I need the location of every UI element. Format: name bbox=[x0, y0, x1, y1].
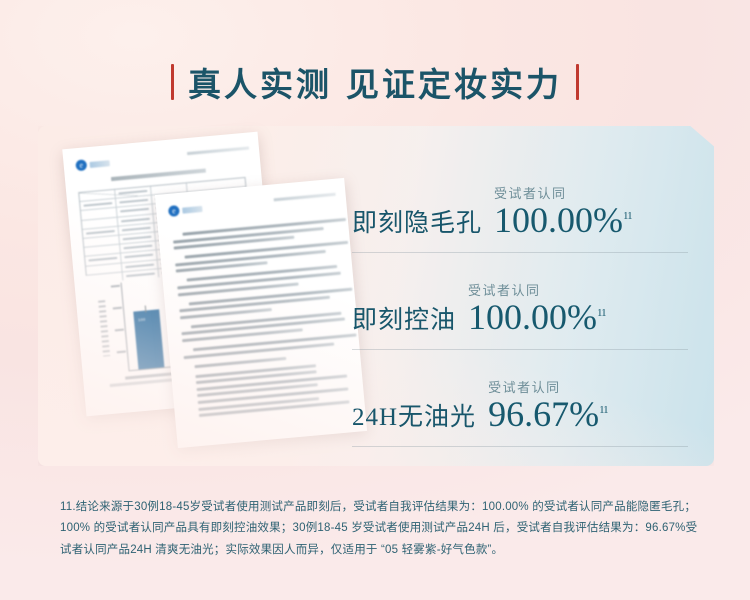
stat-footnote-mark-24h-matte: 11 bbox=[599, 404, 608, 416]
report-header-line bbox=[187, 147, 249, 156]
clinical-report-front-page: e bbox=[155, 178, 367, 448]
chart-y-axis bbox=[121, 283, 130, 371]
stat-row-24h-matte: 24H无油光 受试者认同 96.67%11 bbox=[352, 349, 688, 446]
stat-value-24h-matte: 96.67%11 bbox=[488, 396, 608, 432]
stat-row-oil-control: 即刻控油 受试者认同 100.00%11 bbox=[352, 252, 688, 349]
page-title: 真人实测见证定妆实力 bbox=[0, 58, 750, 106]
promo-page: 真人实测见证定妆实力 e bbox=[0, 0, 750, 600]
title-part-1: 真人实测 bbox=[188, 68, 332, 104]
report-logo-icon: e bbox=[75, 157, 110, 171]
title-part-2: 见证定妆实力 bbox=[346, 68, 562, 104]
page-title-text: 真人实测见证定妆实力 bbox=[188, 58, 562, 106]
stat-value-pore-number: 100.00% bbox=[494, 200, 623, 240]
stat-value-pore: 100.00%11 bbox=[494, 202, 632, 238]
stat-name-pore: 即刻隐毛孔 bbox=[352, 211, 482, 238]
chart-bar-blue: 100 bbox=[133, 309, 164, 369]
stats-list: 即刻隐毛孔 受试者认同 100.00%11 即刻控油 受试者认同 100.00%… bbox=[352, 156, 688, 448]
stat-value-24h-matte-number: 96.67% bbox=[488, 394, 599, 434]
report-table-title bbox=[111, 169, 206, 182]
stat-value-oil-control-number: 100.00% bbox=[468, 297, 597, 337]
footnote-text: 11.结论来源于30例18-45岁受试者使用测试产品即刻后，受试者自我评估结果为… bbox=[60, 497, 700, 561]
stat-name-24h-matte: 24H无油光 bbox=[352, 405, 476, 432]
title-left-bar bbox=[171, 64, 174, 100]
stat-footnote-mark-oil-control: 11 bbox=[597, 307, 606, 319]
stat-footnote-mark-pore: 11 bbox=[623, 210, 632, 222]
report-paragraphs bbox=[172, 219, 353, 425]
stat-row-pore: 即刻隐毛孔 受试者认同 100.00%11 bbox=[352, 156, 688, 252]
stat-value-oil-control: 100.00%11 bbox=[468, 299, 606, 335]
report-logo-icon: e bbox=[168, 203, 203, 217]
stats-bottom-divider bbox=[352, 446, 688, 447]
report-header-line bbox=[274, 193, 336, 202]
title-right-bar bbox=[576, 64, 579, 100]
chart-y-axis-label bbox=[98, 300, 110, 356]
stat-name-oil-control: 即刻控油 bbox=[352, 308, 456, 335]
